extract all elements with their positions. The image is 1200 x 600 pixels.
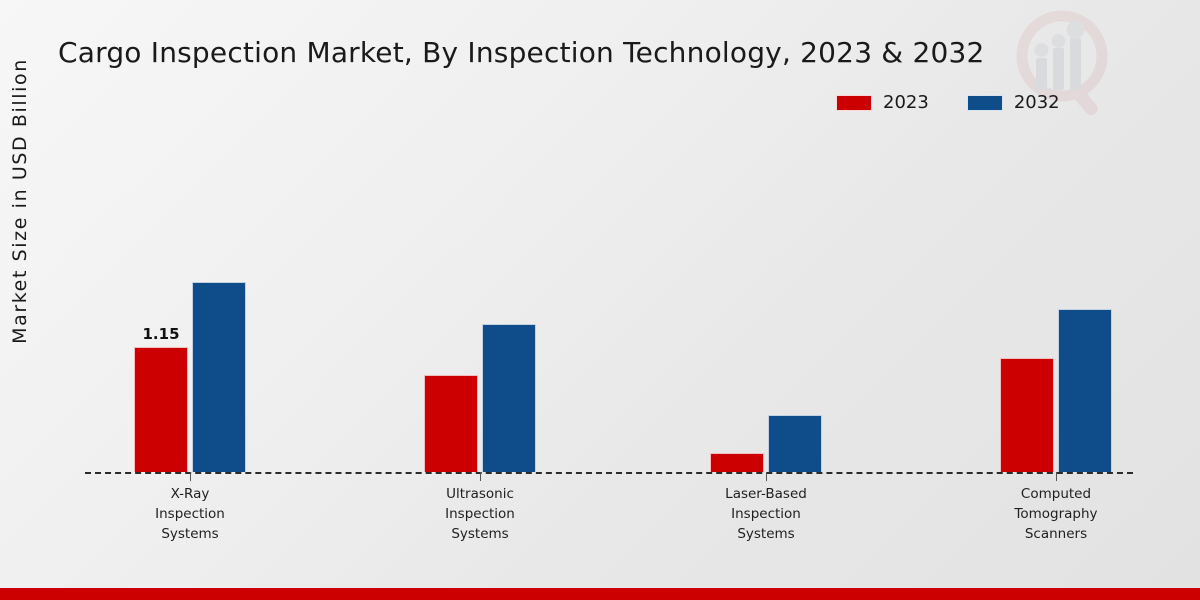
category-line-1: Computed: [946, 484, 1166, 504]
bar-2032-x-ray[interactable]: [192, 282, 246, 472]
category-label-laser-based: Laser-Based Inspection Systems: [656, 484, 876, 544]
bar-pair: [424, 150, 536, 472]
category-line-2: Tomography: [946, 504, 1166, 524]
bar-2023-laser-based[interactable]: [710, 453, 764, 472]
x-axis-tick: [190, 472, 191, 481]
category-label-x-ray: X-Ray Inspection Systems: [80, 484, 300, 544]
y-axis-title: Market Size in USD Billion: [9, 36, 31, 366]
x-axis-tick: [480, 472, 481, 481]
chart-legend: 2023 2032: [836, 92, 1060, 113]
legend-label-2032: 2032: [1014, 92, 1060, 113]
category-line-2: Inspection: [80, 504, 300, 524]
x-axis-tick: [766, 472, 767, 481]
bar-2032-laser-based[interactable]: [768, 415, 822, 472]
x-axis-baseline: [85, 472, 1133, 474]
x-axis-tick: [1056, 472, 1057, 481]
category-label-ultrasonic: Ultrasonic Inspection Systems: [370, 484, 590, 544]
category-line-1: Laser-Based: [656, 484, 876, 504]
bar-2023-computed-tomography[interactable]: [1000, 358, 1054, 472]
legend-swatch-2032: [967, 95, 1003, 111]
category-line-3: Systems: [80, 524, 300, 544]
category-line-3: Systems: [656, 524, 876, 544]
footer-accent-band: [0, 588, 1200, 600]
category-line-2: Inspection: [370, 504, 590, 524]
bar-pair: [1000, 150, 1112, 472]
bar-pair: [710, 150, 822, 472]
category-line-1: Ultrasonic: [370, 484, 590, 504]
category-line-2: Inspection: [656, 504, 876, 524]
legend-swatch-2023: [836, 95, 872, 111]
plot-area: 1.15 X-Ray Inspection Systems Ultrasonic…: [85, 150, 1133, 472]
category-line-1: X-Ray: [80, 484, 300, 504]
bar-2023-x-ray[interactable]: 1.15: [134, 347, 188, 472]
bar-2023-ultrasonic[interactable]: [424, 375, 478, 472]
bar-value-label: 1.15: [142, 325, 179, 343]
category-line-3: Systems: [370, 524, 590, 544]
legend-label-2023: 2023: [883, 92, 929, 113]
chart-canvas: Cargo Inspection Market, By Inspection T…: [0, 0, 1200, 600]
legend-item-2023[interactable]: 2023: [836, 92, 929, 113]
page-title: Cargo Inspection Market, By Inspection T…: [58, 36, 985, 69]
category-label-computed-tomography: Computed Tomography Scanners: [946, 484, 1166, 544]
bar-2032-ultrasonic[interactable]: [482, 324, 536, 472]
category-line-3: Scanners: [946, 524, 1166, 544]
legend-item-2032[interactable]: 2032: [967, 92, 1060, 113]
bar-pair: 1.15: [134, 150, 246, 472]
bar-2032-computed-tomography[interactable]: [1058, 309, 1112, 472]
